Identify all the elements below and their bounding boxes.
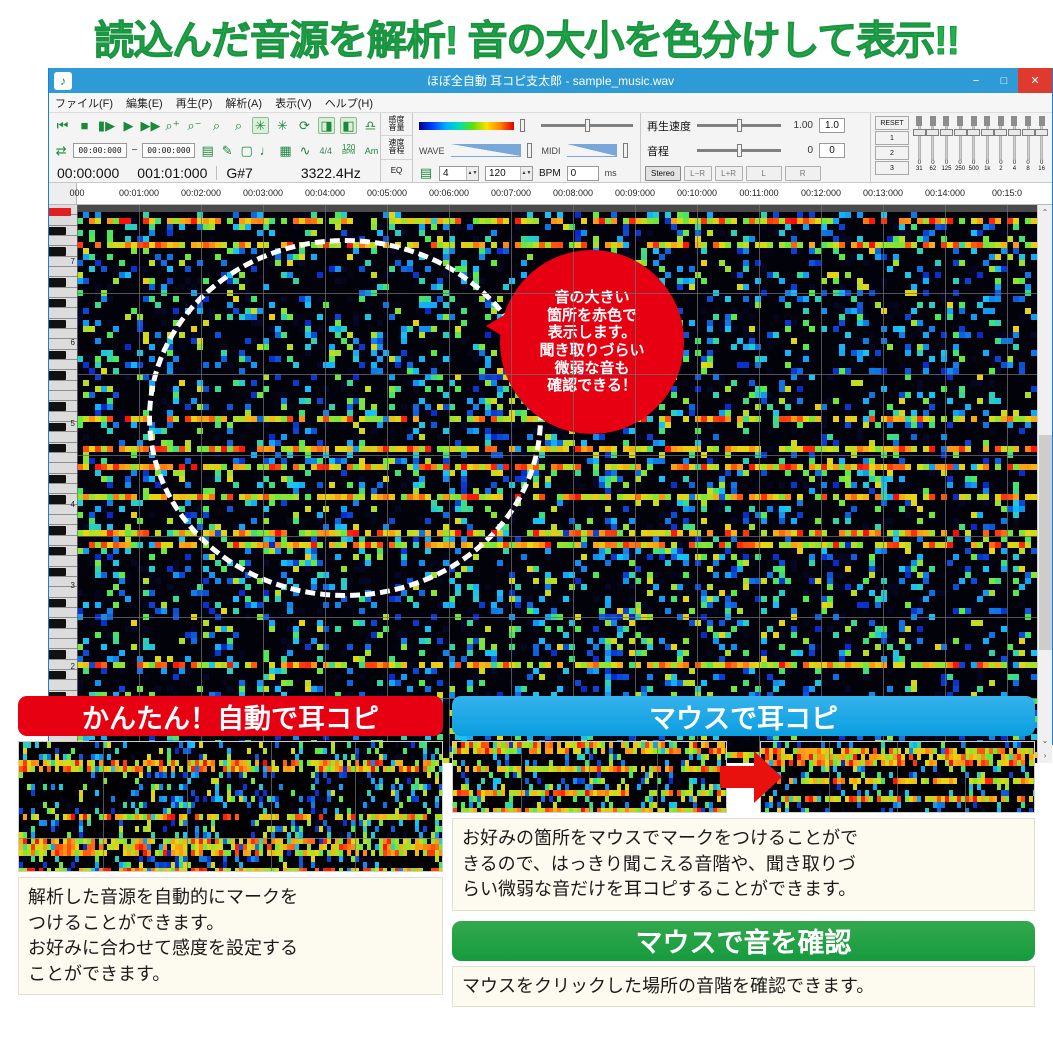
thumb-gridline (589, 742, 590, 812)
ruler-tick-10: 00:10:000 (677, 188, 717, 198)
menu-item-analyze[interactable]: 解析(A) (225, 95, 262, 111)
zoom-out-icon[interactable]: ⌕⁻ (186, 117, 203, 134)
ruler-tick-8: 00:08:000 (553, 188, 593, 198)
thumb-gridline (521, 742, 522, 812)
spectrogram-gridline-v (325, 205, 326, 763)
piano-white-key[interactable] (49, 484, 77, 494)
spectrogram-gridline-v (945, 205, 946, 763)
menu-item-edit[interactable]: 編集(E) (126, 95, 163, 111)
pitch-row: 音程 0 0 (641, 138, 870, 163)
banner-mouse-sound-check: マウスで音を確認 (452, 921, 1035, 961)
piano-white-key[interactable] (49, 608, 77, 618)
ruler-tick-15: 00:15:0 (992, 188, 1022, 198)
transport-row: ⏮ ■ ▮▶ ▶ ▶▶ ⌕⁺ ⌕⁻ ⌕ ⌕ ✳ ✳ ⟳ ◨ ◧ ♎ (49, 113, 380, 138)
pitch-slider[interactable] (697, 149, 781, 152)
ruler-tick-12: 00:12:000 (801, 188, 841, 198)
offset-input[interactable]: 0 (567, 166, 599, 181)
eq-freq-31: 31 (916, 166, 923, 172)
play-icon[interactable]: ▶ (120, 117, 137, 134)
eq-freq-250: 250 (955, 166, 965, 172)
piano-black-key[interactable] (49, 547, 66, 555)
status-divider (216, 166, 217, 180)
eq-slider-31[interactable] (913, 116, 926, 160)
playback-speed-value: 1.00 (787, 120, 813, 131)
callout-bubble: 音の大きい 箇所を赤色で 表示します。 聞き取りづらい 微弱な音も 確認できる！ (500, 250, 684, 434)
eq-cap-500 (971, 116, 977, 126)
eq-preset-1-button[interactable]: 1 (875, 131, 909, 145)
menu-item-file[interactable]: ファイル(F) (55, 95, 113, 111)
eq-band-31[interactable]: 031 (913, 116, 926, 180)
spectrogram-gridline-v (387, 205, 388, 763)
playback-speed-label: 再生速度 (647, 118, 691, 134)
eq-cap-4 (1011, 116, 1017, 126)
piano-white-key[interactable] (49, 267, 77, 277)
tuning-icon[interactable]: ♎ (362, 117, 379, 134)
eq-knob-62[interactable] (926, 129, 939, 136)
ms-label: ms (605, 168, 617, 178)
eq-slider-500[interactable] (967, 116, 980, 160)
piano-black-key[interactable] (49, 227, 66, 235)
thumb-gridline (187, 742, 188, 871)
status-frequency: 3322.4Hz (301, 165, 361, 181)
eq-freq-1k: 1k (984, 166, 990, 172)
tab-eq[interactable]: EQ (381, 160, 412, 182)
eq-band-2[interactable]: 02 (995, 116, 1008, 180)
channel-button-r[interactable]: R (785, 166, 821, 181)
piano-black-key[interactable] (49, 402, 66, 410)
ruler-tick-4: 00:04:000 (305, 188, 345, 198)
menu-item-help[interactable]: ヘルプ(H) (325, 95, 373, 111)
piano-black-key[interactable] (49, 568, 66, 576)
thumb-gridline (897, 742, 898, 812)
eq-knob-125[interactable] (940, 129, 953, 136)
spectrogram-gridline-v (449, 205, 450, 763)
stop-icon[interactable]: ■ (76, 117, 93, 134)
spectrogram-gridline-v (1007, 205, 1008, 763)
spectrogram-top-band (77, 205, 1037, 212)
page-headline: 読込んだ音源を解析! 音の大小を色分けして表示!! (0, 8, 1053, 66)
volume-slider-thumb[interactable] (585, 119, 590, 132)
tempo-input[interactable]: 120 ▲▼ (485, 166, 533, 181)
time-signature-label[interactable]: 4/4 (317, 142, 334, 159)
panel-mouse-features: マウスで耳コピ お好みの箇所をマウスでマークをつけることがで きるので、はっきり… (452, 696, 1035, 1046)
piano-white-key[interactable] (49, 288, 77, 298)
eq-knob-4[interactable] (1008, 129, 1021, 136)
piano-octave-label-6: 6 (71, 338, 75, 347)
piano-white-key[interactable] (49, 236, 77, 246)
menu-item-view[interactable]: 表示(V) (275, 95, 312, 111)
eq-freq-2: 2 (999, 166, 1002, 172)
piano-black-key[interactable] (49, 423, 66, 431)
ruler-tick-5: 00:05:000 (367, 188, 407, 198)
bpm-label: BPM (539, 168, 561, 179)
loop-icon[interactable]: ⟳ (296, 117, 313, 134)
piano-black-key[interactable] (49, 371, 66, 379)
pan-right-icon[interactable]: ◧ (340, 117, 357, 134)
pencil-icon[interactable]: ✎ (220, 142, 234, 159)
grid-icon[interactable]: ✳ (274, 117, 291, 134)
sensitivity-row (413, 113, 640, 138)
tab-sensitivity-line2: 音量 (389, 124, 405, 132)
grid-highlight-icon[interactable]: ✳ (252, 117, 269, 134)
status-note: G#7 (226, 165, 252, 181)
bpm-icon-sub: BPM (342, 151, 355, 157)
thumb-gridline (657, 742, 658, 812)
eq-slider-250[interactable] (954, 116, 967, 160)
ruler-tick-11: 00:11:000 (739, 188, 778, 198)
eq-slider-2[interactable] (995, 116, 1008, 160)
ruler-tick-9: 00:09:000 (615, 188, 655, 198)
ruler-tick-0: 000 (69, 188, 84, 198)
eq-band-62[interactable]: 062 (927, 116, 940, 180)
channel-row: Stereo L−R L+R L R (641, 163, 870, 183)
spectrogram-area: 765432 音の大きい 箇所を赤色で 表示します。 聞き取りづらい 微弱な音も… (49, 205, 1052, 763)
range-end-input[interactable]: 00:00:000 (142, 143, 195, 158)
eq-cap-125 (943, 116, 949, 126)
ruler-tick-3: 00:03:000 (243, 188, 283, 198)
eq-cap-250 (957, 116, 963, 126)
volume-slider[interactable] (541, 124, 633, 127)
thumbnail-after (760, 741, 1035, 813)
wave-slider-thumb[interactable] (527, 143, 532, 158)
channel-button-l-minus-r[interactable]: L−R (684, 166, 712, 181)
midi-slider-thumb[interactable] (623, 143, 628, 158)
eq-preset-2-button[interactable]: 2 (875, 146, 909, 160)
midi-ramp-slider[interactable] (567, 144, 617, 157)
spectrogram-gridline-h (77, 617, 1037, 618)
piano-octave-label-5: 5 (71, 419, 75, 428)
zoom-vertical-out-icon[interactable]: ⌕ (230, 117, 247, 134)
beat-input[interactable]: 4 ▲▼ (439, 166, 479, 181)
spectrogram-gridline-h (77, 374, 1037, 375)
menu-item-play[interactable]: 再生(P) (176, 95, 213, 111)
eq-knob-500[interactable] (967, 129, 980, 136)
eq-knob-16[interactable] (1035, 129, 1048, 136)
spectrogram-gridline-v (821, 205, 822, 763)
ruler-tick-13: 00:13:000 (863, 188, 903, 198)
application-window: ♪ ほぼ全自動 耳コピ支太郎 - sample_music.wav − □ ✕ … (48, 68, 1053, 745)
spectrogram-gridline-h (77, 293, 1037, 294)
key-label[interactable]: Am (363, 142, 380, 159)
tab-eq-label: EQ (391, 167, 403, 175)
eq-knob-250[interactable] (954, 129, 967, 136)
scroll-right-arrow[interactable]: › (1044, 748, 1047, 762)
piano-black-key[interactable] (49, 247, 66, 255)
piano-black-key[interactable] (49, 278, 66, 286)
toolbar-mode-tabs: 感度 音量 速度 音程 EQ (381, 113, 413, 182)
piano-white-key[interactable] (49, 629, 77, 639)
repeat-icon[interactable]: ⇄ (54, 142, 68, 159)
before-after-row (452, 741, 1035, 813)
range-start-input[interactable]: 00:00:000 (73, 143, 126, 158)
piano-white-key[interactable] (49, 463, 77, 473)
piano-white-key[interactable] (49, 515, 77, 525)
menu-bar: ファイル(F) 編集(E) 再生(P) 解析(A) 表示(V) ヘルプ(H) (49, 93, 1052, 113)
thumb-gridline (103, 742, 104, 871)
eq-freq-8: 8 (1026, 166, 1029, 172)
status-measure: 001:01:000 (137, 165, 207, 181)
thumb-gridline (271, 742, 272, 871)
eq-cap-16 (1039, 116, 1045, 126)
channel-button-stereo[interactable]: Stereo (645, 166, 681, 181)
note-icon[interactable]: ♩ (259, 142, 273, 159)
callout-text: 音の大きい 箇所を赤色で 表示します。 聞き取りづらい 微弱な音も 確認できる！ (539, 289, 644, 395)
eq-grid-icon[interactable]: ▤ (419, 165, 433, 182)
spectrogram-canvas[interactable]: 音の大きい 箇所を赤色で 表示します。 聞き取りづらい 微弱な音も 確認できる！ (77, 205, 1037, 763)
window-title: ほぼ全自動 耳コピ支太郎 - sample_music.wav (49, 72, 1052, 89)
vertical-scrollbar[interactable]: ⌃ ⌄ › (1037, 205, 1052, 763)
piano-black-key[interactable] (49, 650, 66, 658)
eq-slider-8[interactable] (1022, 116, 1035, 160)
spectrogram-gridline-v (201, 205, 202, 763)
wave-icon[interactable]: ∿ (298, 142, 312, 159)
ruler-tick-14: 00:14:000 (925, 188, 965, 198)
pitch-thumb[interactable] (737, 144, 742, 157)
tab-speed-pitch[interactable]: 速度 音程 (381, 136, 412, 159)
status-elapsed: 00:00:000 (57, 165, 119, 181)
spectrogram-gridline-v (77, 205, 78, 763)
piano-black-key[interactable] (49, 619, 66, 627)
eq-slider-16[interactable] (1035, 116, 1048, 160)
eq-band-125[interactable]: 0125 (940, 116, 953, 180)
eq-slider-125[interactable] (940, 116, 953, 160)
toolbar-middle-block: WAVE MIDI ▤ 4 ▲▼ 120 ▲▼ BPM 0 (413, 113, 641, 182)
eq-freq-4: 4 (1013, 166, 1016, 172)
beat-stepper[interactable]: ▲▼ (466, 167, 478, 180)
eq-preset-3-button[interactable]: 3 (875, 161, 909, 175)
wave-ramp-slider[interactable] (451, 144, 521, 157)
eq-freq-500: 500 (969, 166, 979, 172)
eq-knob-8[interactable] (1022, 129, 1035, 136)
piano-black-key[interactable] (49, 351, 66, 359)
channel-button-l[interactable]: L (746, 166, 782, 181)
callout-tail (486, 310, 512, 342)
scroll-up-arrow[interactable]: ⌃ (1042, 205, 1049, 219)
eq-knob-31[interactable] (913, 129, 926, 136)
banner-mouse-transcription: マウスで耳コピ (452, 696, 1035, 736)
toolbar: ⏮ ■ ▮▶ ▶ ▶▶ ⌕⁺ ⌕⁻ ⌕ ⌕ ✳ ✳ ⟳ ◨ ◧ ♎ ⇄ 00:0… (49, 113, 1052, 183)
piano-black-key[interactable] (49, 671, 66, 679)
spectrogram-gridline-v (697, 205, 698, 763)
eq-band-8[interactable]: 08 (1022, 116, 1035, 180)
spectrogram-gridline-v (263, 205, 264, 763)
eq-slider-4[interactable] (1008, 116, 1021, 160)
ruler-tick-2: 00:02:000 (181, 188, 221, 198)
playback-speed-thumb[interactable] (737, 119, 742, 132)
toolbar-right-block: 再生速度 1.00 1.0 音程 0 0 Stereo L−R L+R L (641, 113, 871, 182)
spectrogram-gridline-h (77, 536, 1037, 537)
piano-black-key[interactable] (49, 444, 66, 452)
piano-white-key[interactable] (49, 453, 77, 463)
piano-octave-label-3: 3 (71, 581, 75, 590)
zoom-in-icon[interactable]: ⌕⁺ (164, 117, 181, 134)
tab-sensitivity-volume[interactable]: 感度 音量 (381, 113, 412, 136)
eq-cap-1k (984, 116, 990, 126)
piano-white-key[interactable] (49, 391, 77, 401)
piano-white-key[interactable] (49, 680, 77, 690)
pan-left-icon[interactable]: ◨ (318, 117, 335, 134)
spectrogram-gridline-v (883, 205, 884, 763)
banner-auto-transcription: かんたん！自動で耳コピ (18, 696, 443, 736)
panel-auto-transcription: かんたん！自動で耳コピ 解析した音源を自動的にマークを つけることができます。 … (18, 696, 443, 1046)
step-forward-icon[interactable]: ▮▶ (98, 117, 115, 134)
status-row: 00:00:000 001:01:000 G#7 3322.4Hz (49, 163, 380, 183)
piano-white-key[interactable] (49, 536, 77, 546)
eq-cap-8 (1025, 116, 1031, 126)
eq-band-4[interactable]: 04 (1008, 116, 1021, 180)
title-bar: ♪ ほぼ全自動 耳コピ支太郎 - sample_music.wav − □ ✕ (49, 68, 1052, 93)
equalizer-panel: RESET 1 2 3 03106201250250050001k0204080… (871, 113, 1052, 182)
piano-octave-label-4: 4 (71, 500, 75, 509)
beat-value: 4 (443, 168, 449, 179)
thumbnail-before (452, 741, 727, 813)
thumb-gridline (355, 742, 356, 871)
thumb-gridline (19, 838, 442, 839)
ruler-tick-6: 00:06:000 (429, 188, 469, 198)
piano-white-key[interactable] (49, 360, 77, 370)
right-arrow-icon (720, 749, 782, 805)
zoom-vertical-in-icon[interactable]: ⌕ (208, 117, 225, 134)
table-icon[interactable]: ▤ (200, 142, 214, 159)
piano-white-key[interactable] (49, 639, 77, 649)
rewind-icon[interactable]: ⏮ (54, 117, 71, 134)
eq-band-250[interactable]: 0250 (954, 116, 967, 180)
select-icon[interactable]: ▢ (239, 142, 253, 159)
wave-midi-row: WAVE MIDI (413, 138, 640, 163)
eq-freq-62: 62 (930, 166, 937, 172)
spectrogram-gridline-v (635, 205, 636, 763)
eq-cap-2 (998, 116, 1004, 126)
eq-reset-button[interactable]: RESET (875, 116, 909, 130)
sensitivity-gradient (419, 122, 514, 130)
body-mouse-sound-check: マウスをクリックした場所の音階を確認できます。 (452, 966, 1035, 1008)
pitch-box[interactable]: 0 (819, 143, 845, 158)
thumb-gridline (965, 742, 966, 812)
range-dash: − (132, 145, 138, 156)
thumb-gridline (829, 742, 830, 812)
equalizer-presets: RESET 1 2 3 (875, 116, 909, 180)
scroll-thumb[interactable] (1039, 435, 1052, 650)
equalizer-bands: 03106201250250050001k020408016 (909, 116, 1048, 180)
spectrogram-gridline-h (77, 455, 1037, 456)
piano-white-key[interactable] (49, 432, 77, 442)
eq-freq-16: 16 (1038, 166, 1045, 172)
eq-cap-31 (916, 116, 922, 126)
bpm-icon[interactable]: 120 BPM (339, 142, 358, 159)
piano-white-key[interactable] (49, 556, 77, 566)
ruler-tick-7: 00:07:000 (491, 188, 531, 198)
spectrogram-gridline-v (139, 205, 140, 763)
highlight-circle (147, 238, 543, 598)
eq-band-1k[interactable]: 01k (981, 116, 994, 180)
eq-cap-62 (930, 116, 936, 126)
offset-value: 0 (571, 168, 577, 179)
piano-black-key[interactable] (49, 320, 66, 328)
eq-freq-125: 125 (941, 166, 951, 172)
piano-black-key[interactable] (49, 495, 66, 503)
piano-black-key[interactable] (49, 475, 66, 483)
piano-selected-key (49, 208, 71, 216)
playback-speed-row: 再生速度 1.00 1.0 (641, 113, 870, 138)
body-auto-transcription: 解析した音源を自動的にマークを つけることができます。 お好みに合わせて感度を設… (18, 877, 443, 995)
toolbar-left-block: ⏮ ■ ▮▶ ▶ ▶▶ ⌕⁺ ⌕⁻ ⌕ ⌕ ✳ ✳ ⟳ ◨ ◧ ♎ ⇄ 00:0… (49, 113, 381, 182)
spectrogram-gridline-v (511, 205, 512, 763)
channel-button-l-plus-r[interactable]: L+R (715, 166, 743, 181)
piano-octave-label-2: 2 (71, 662, 75, 671)
eq-knob-1k[interactable] (981, 129, 994, 136)
body-mouse-transcription: お好みの箇所をマウスでマークをつけることがで きるので、はっきり聞こえる音階や、… (452, 818, 1035, 911)
playback-speed-box[interactable]: 1.0 (819, 118, 845, 133)
eq-band-500[interactable]: 0500 (967, 116, 980, 180)
pitch-label: 音程 (647, 143, 669, 159)
timeline-ruler[interactable]: 00000:01:00000:02:00000:03:00000:04:0000… (49, 183, 1052, 205)
piano-white-key[interactable] (49, 308, 77, 318)
piano-octave-label-7: 7 (71, 257, 75, 266)
eq-knob-2[interactable] (994, 129, 1007, 136)
piano-roll-icon[interactable]: ▦ (278, 142, 292, 159)
ruler-tick-1: 00:01:000 (119, 188, 159, 198)
piano-white-key[interactable] (49, 215, 77, 225)
range-row: ⇄ 00:00:000 − 00:00:000 ▤ ✎ ▢ ♩ ▦ ∿ 4/4 … (49, 138, 380, 163)
eq-slider-1k[interactable] (981, 116, 994, 160)
thumbnail-auto-transcription (18, 741, 443, 872)
sensitivity-slider-thumb[interactable] (520, 119, 525, 132)
tempo-stepper[interactable]: ▲▼ (520, 167, 532, 180)
eq-slider-62[interactable] (927, 116, 940, 160)
fast-forward-icon[interactable]: ▶▶ (142, 117, 159, 134)
headline-text: 読込んだ音源を解析! 音の大小を色分けして表示!! (94, 8, 959, 66)
eq-band-16[interactable]: 016 (1035, 116, 1048, 180)
midi-label: MIDI (542, 146, 561, 156)
piano-black-key[interactable] (49, 526, 66, 534)
tab-speed-line2: 音程 (389, 147, 405, 155)
piano-black-key[interactable] (49, 599, 66, 607)
piano-white-key[interactable] (49, 381, 77, 391)
spectrogram-gridline-v (573, 205, 574, 763)
piano-keyboard[interactable]: 765432 (49, 205, 77, 763)
piano-black-key[interactable] (49, 299, 66, 307)
tempo-value: 120 (489, 168, 506, 179)
playback-speed-slider[interactable] (697, 124, 781, 127)
spectrogram-gridline-v (759, 205, 760, 763)
pitch-value: 0 (787, 145, 813, 156)
wave-label: WAVE (419, 146, 445, 156)
tempo-row: ▤ 4 ▲▼ 120 ▲▼ BPM 0 ms (413, 163, 640, 183)
scroll-down-arrow[interactable]: ⌄ (1042, 733, 1049, 747)
